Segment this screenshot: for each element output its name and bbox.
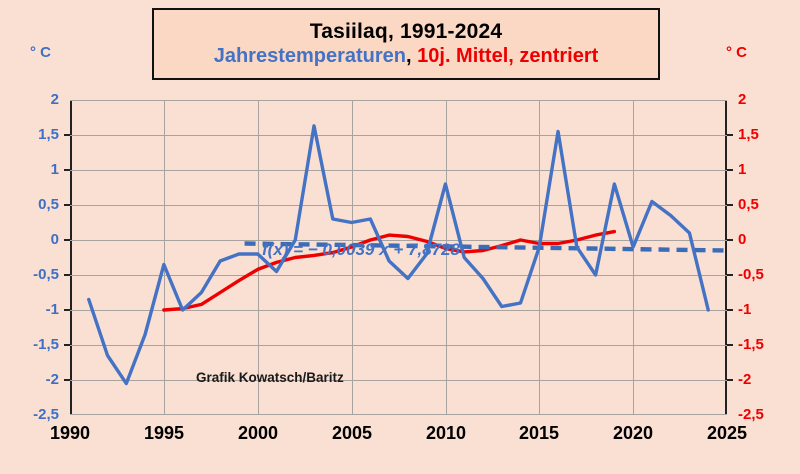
chart-container: Tasiilaq, 1991-2024 Jahrestemperaturen, … [0,0,800,474]
y-tick-right [727,344,733,346]
chart-subtitle-legend: Jahrestemperaturen, 10j. Mittel, zentrie… [214,45,599,68]
y-axis-label-left: -0,5 [33,266,59,283]
legend-label-red: 10j. Mittel, zentriert [417,45,598,67]
y-axis-label-left: -2 [46,371,59,388]
y-axis-label-right: -2,5 [738,406,764,423]
y-axis-label-right: -2 [738,371,751,388]
y-axis-label-left: -1,5 [33,336,59,353]
y-tick-right [727,204,733,206]
y-axis-label-right: 2 [738,91,746,108]
y-tick-right [727,134,733,136]
y-axis-unit-right: ° C [726,44,747,61]
x-axis-label: 2020 [613,423,653,444]
y-axis-label-left: 1 [51,161,59,178]
y-axis-label-left: 0,5 [38,196,59,213]
x-axis-label: 2015 [519,423,559,444]
y-axis-label-left: 0 [51,231,59,248]
trendline-equation: f(x) = − 0,0039 x + 7,8728 [262,240,460,260]
x-axis-label: 2025 [707,423,747,444]
y-axis-label-left: -2,5 [33,406,59,423]
y-tick-right [727,239,733,241]
chart-credit: Grafik Kowatsch/Baritz [196,370,344,385]
x-axis-label: 1990 [50,423,90,444]
y-tick-right [727,309,733,311]
y-tick-right [727,274,733,276]
y-axis-label-right: 0,5 [738,196,759,213]
x-axis-label: 2005 [332,423,372,444]
x-axis-label: 2000 [238,423,278,444]
y-axis-label-right: -0,5 [738,266,764,283]
y-axis-label-left: 2 [51,91,59,108]
chart-title-box: Tasiilaq, 1991-2024 Jahrestemperaturen, … [152,8,660,80]
y-axis-label-left: -1 [46,301,59,318]
y-axis-label-right: 0 [738,231,746,248]
x-axis-label: 2010 [426,423,466,444]
legend-label-blue: Jahrestemperaturen [214,45,406,67]
y-axis-label-right: 1,5 [738,126,759,143]
y-axis-label-right: 1 [738,161,746,178]
chart-title: Tasiilaq, 1991-2024 [310,20,503,44]
legend-separator: , [406,45,417,67]
y-axis-label-left: 1,5 [38,126,59,143]
y-axis-label-right: -1,5 [738,336,764,353]
y-tick-right [727,379,733,381]
y-axis-label-right: -1 [738,301,751,318]
y-tick-right [727,169,733,171]
y-axis-unit-left: ° C [30,44,51,61]
x-axis-label: 1995 [144,423,184,444]
